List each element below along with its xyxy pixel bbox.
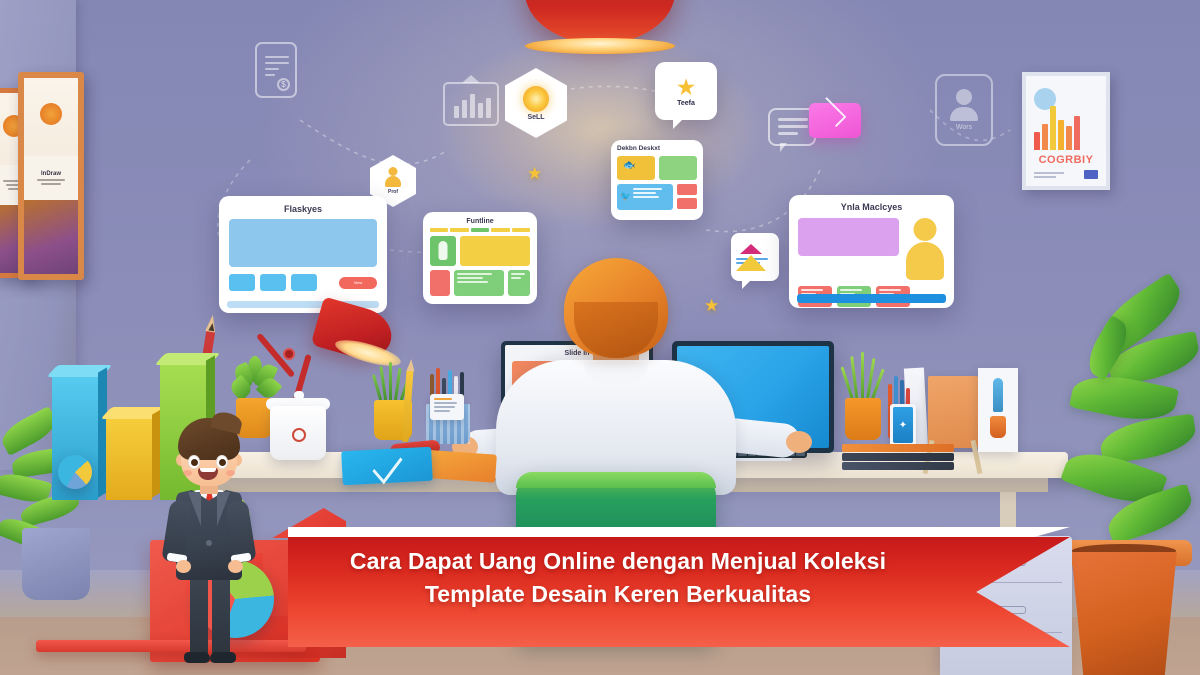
office-chair-rim — [516, 472, 716, 488]
banner-title-line-1: Cara Dapat Uang Online dengan Menjual Ko… — [288, 545, 948, 578]
large-plant-pot — [1064, 552, 1184, 675]
desk-lamp-joint — [283, 348, 295, 360]
floating-card-ynla-maclcyes: Ynla Maclcyes — [789, 195, 954, 308]
illustration-stage: InDraw COGRBIY — [0, 0, 1200, 675]
card-note-tile — [508, 270, 530, 296]
envelope-icon — [809, 103, 861, 138]
poster-caption-lines — [1034, 172, 1064, 178]
mascot-jacket-button — [206, 540, 212, 546]
floating-card-funtline: Funtline — [423, 212, 537, 304]
floating-card-flaskyes: Flaskyes View — [219, 196, 387, 313]
tablet-device: ✦ — [890, 404, 916, 446]
mascot-shoe-right — [210, 652, 236, 663]
user-icon — [385, 167, 402, 187]
bubble-teefa-label: Teefa — [677, 100, 695, 107]
card-title: Flaskyes — [229, 204, 377, 214]
paint-bottle-icon — [990, 416, 1006, 438]
card-list-tile — [454, 270, 504, 296]
sticky-note — [430, 394, 464, 420]
card-person-tile — [430, 236, 456, 266]
card-hero-image — [229, 219, 377, 267]
bubble-teefa: ★ Teefa — [655, 62, 717, 120]
banner-title-text: Cara Dapat Uang Online dengan Menjual Ko… — [288, 545, 948, 610]
card-nav-row — [430, 228, 530, 232]
canvas-board — [928, 376, 978, 448]
chart-triangle-icon — [736, 238, 766, 271]
desk-plant-grass-right — [840, 352, 886, 402]
mascot-leg-right — [212, 574, 230, 656]
pendant-light-glow — [435, 30, 765, 230]
card-action-button[interactable]: View — [339, 277, 377, 289]
paintbrush-icon — [993, 378, 1003, 412]
mascot-hand-left — [176, 560, 191, 573]
card-button-stack[interactable] — [677, 184, 697, 210]
bubble-analytics — [731, 233, 779, 281]
card-thumb — [260, 274, 286, 291]
mug-logo — [292, 428, 306, 442]
floating-card-dekbn-deskxt: Dekbn Deskxt — [611, 140, 703, 220]
badge-sell-label: SeLL — [527, 114, 544, 121]
frame-title: InDraw — [41, 171, 61, 177]
avatar — [905, 218, 945, 280]
mascot-hair — [178, 418, 240, 460]
poster-word: COGRBIY — [1026, 154, 1106, 166]
star-icon-small-2: ★ — [704, 296, 719, 316]
user-profile-icon-label: Wors — [956, 124, 972, 131]
desk-plant-succulent — [232, 356, 278, 402]
bar-yellow — [106, 414, 152, 500]
card-thumb — [229, 274, 255, 291]
mascot-shoe-left — [184, 652, 210, 663]
poster-badge — [1084, 170, 1098, 179]
mascot-leg-left — [190, 574, 208, 656]
card-green-tile — [659, 156, 697, 180]
person-head — [564, 258, 668, 356]
poster-bar-chart — [1034, 98, 1080, 150]
person-hand-right — [786, 431, 812, 453]
wall-poster-chart: COGRBIY — [1022, 72, 1110, 190]
card-title: Dekbn Deskxt — [617, 145, 697, 152]
pie-chart-small — [58, 455, 92, 489]
banner-title-line-2: Template Desain Keren Berkualitas — [288, 578, 948, 611]
card-social-tile — [617, 184, 673, 210]
art-supplies-poster — [978, 368, 1018, 452]
chart-board-icon — [443, 82, 499, 126]
mascot-hand-right — [228, 560, 243, 573]
badge-profile-label: Prof — [388, 189, 398, 195]
card-alert-tile — [430, 270, 450, 296]
blue-folder — [341, 447, 433, 486]
star-icon: ★ — [676, 76, 697, 99]
businessman-mascot — [150, 418, 268, 666]
card-hero-image — [798, 218, 899, 256]
fish-icon — [617, 156, 655, 180]
user-profile-icon: Wors — [935, 74, 993, 146]
card-footer-bar — [797, 294, 946, 303]
wall-frame-left-inner: InDraw — [18, 72, 84, 280]
mascot-eye-right — [216, 455, 228, 469]
card-thumb — [291, 274, 317, 291]
card-title: Funtline — [430, 218, 530, 225]
card-title: Ynla Maclcyes — [798, 202, 945, 212]
left-plant-pot — [22, 528, 90, 600]
banner-top-stripe — [288, 527, 1070, 538]
mascot-cheek-right — [226, 470, 235, 476]
title-banner: Cara Dapat Uang Online dengan Menjual Ko… — [288, 527, 1070, 647]
desk-plant-pot-3 — [845, 398, 881, 440]
star-icon-small-1: ★ — [527, 164, 542, 184]
mascot-cheek-left — [183, 470, 192, 476]
sun-icon — [523, 86, 549, 112]
invoice-icon: $ — [255, 42, 297, 98]
mascot-eye-left — [188, 455, 200, 469]
tablet-screen: ✦ — [893, 407, 913, 443]
card-banner-tile — [460, 236, 530, 266]
book-stack — [842, 444, 954, 470]
